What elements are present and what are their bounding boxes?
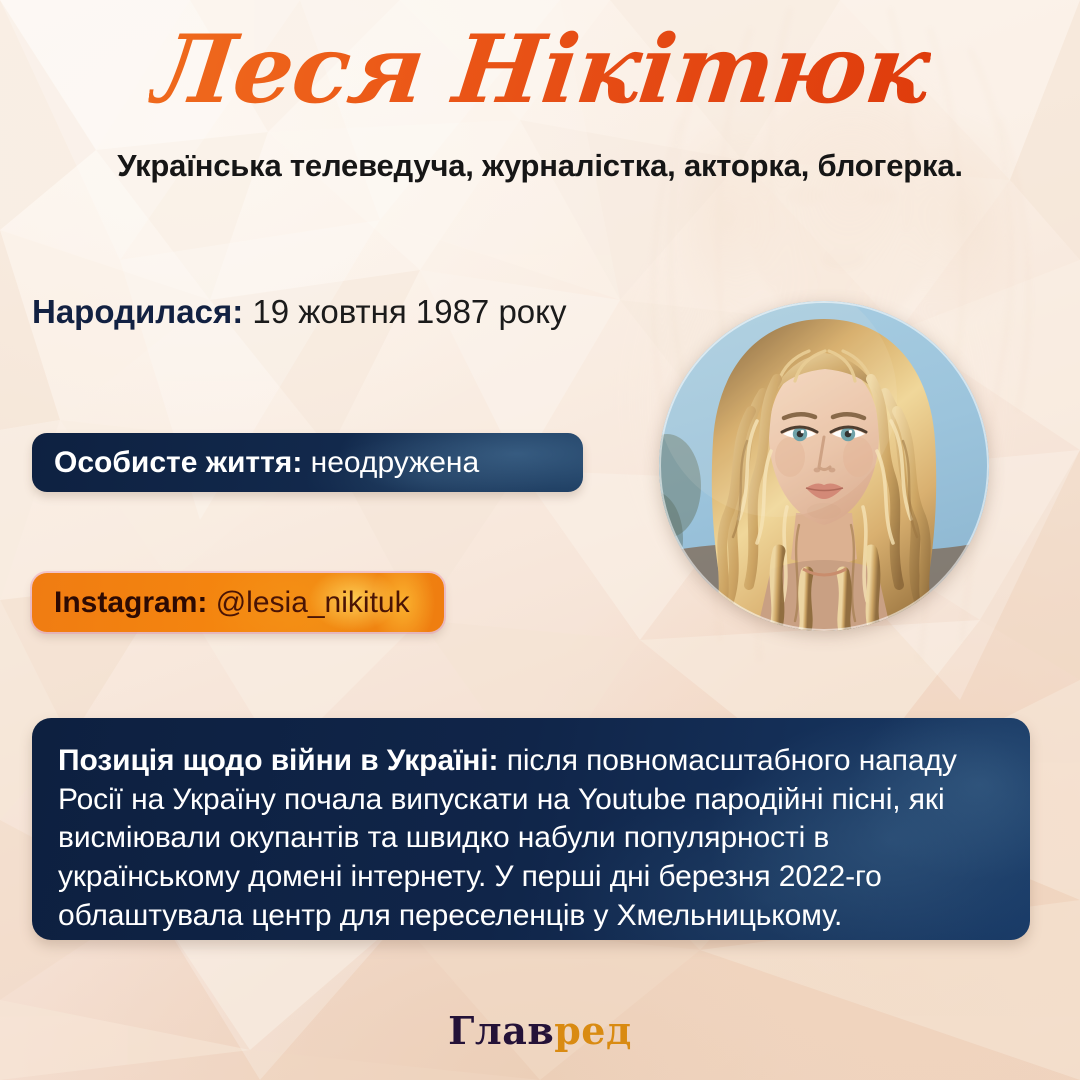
- brand-logo[interactable]: Главред: [0, 1008, 1080, 1053]
- fact-personal-life-content: Особисте життя: неодружена: [32, 448, 501, 478]
- brand-logo-part-amber: ред: [554, 1008, 632, 1053]
- war-position-card: Позиція щодо війни в Україні: після повн…: [32, 718, 1030, 940]
- page-title: Леся Нікітюк: [146, 22, 935, 120]
- fact-born-label: Народилася:: [32, 293, 243, 330]
- portrait-photo: [659, 301, 989, 631]
- war-position-text: Позиція щодо війни в Україні: після повн…: [32, 718, 1030, 935]
- fact-instagram-pill[interactable]: Instagram: @lesia_nikituk: [32, 573, 444, 632]
- fact-born-value: 19 жовтня 1987 року: [252, 293, 566, 330]
- fact-instagram-handle[interactable]: @lesia_nikituk: [216, 586, 410, 619]
- title-container: Леся Нікітюк: [0, 22, 1080, 120]
- fact-born: Народилася: 19 жовтня 1987 року: [32, 293, 566, 331]
- infographic-poster: Леся Нікітюк Українська телеведуча, журн…: [0, 0, 1080, 1080]
- fact-personal-life-value: неодружена: [311, 446, 479, 479]
- fact-personal-life-label: Особисте життя:: [54, 446, 302, 479]
- war-position-label: Позиція щодо війни в Україні:: [58, 744, 498, 777]
- fact-instagram-content: Instagram: @lesia_nikituk: [32, 588, 432, 618]
- page-subtitle: Українська телеведуча, журналістка, акто…: [0, 148, 1080, 184]
- fact-instagram-label: Instagram:: [54, 586, 207, 619]
- brand-logo-part-dark: Глав: [448, 1008, 554, 1053]
- fact-personal-life-pill: Особисте життя: неодружена: [32, 433, 583, 492]
